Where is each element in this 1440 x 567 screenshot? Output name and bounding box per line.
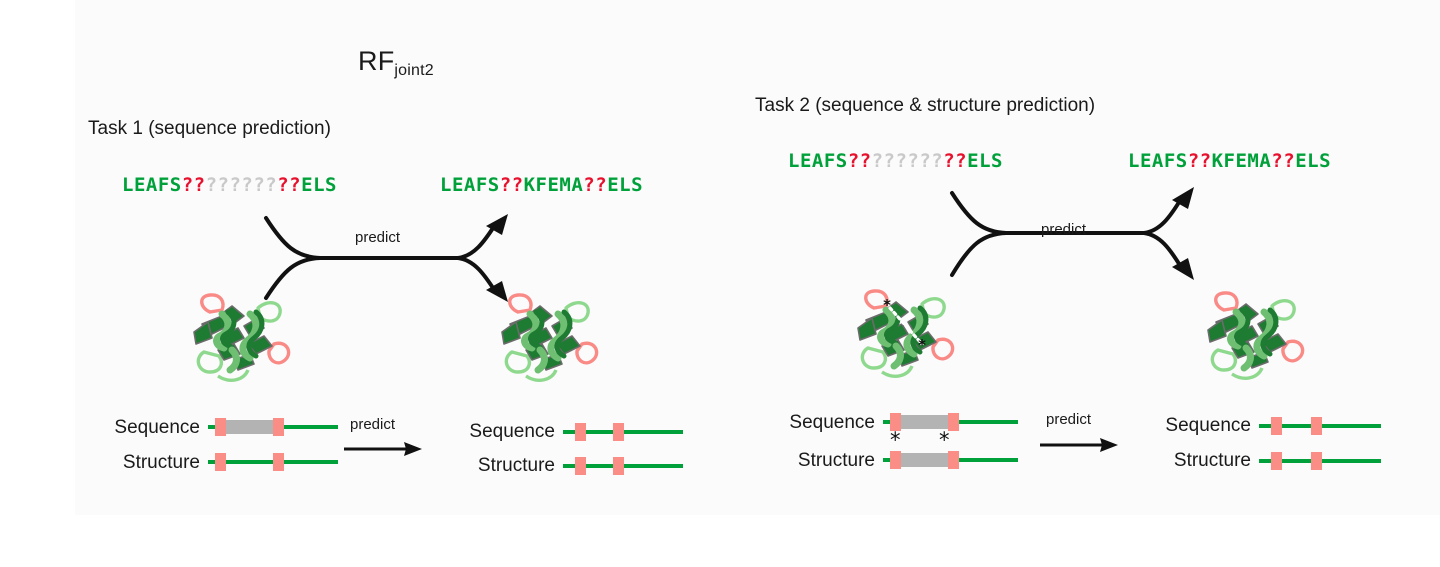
figure-title: RFjoint2 [358, 46, 434, 77]
task1-bottom-predict-label: predict [350, 416, 395, 433]
sequence-segment-green: LEAFS [788, 150, 848, 172]
task1-title: Task 1 (sequence prediction) [88, 118, 331, 140]
task1-bowtie-predict-label: predict [355, 229, 400, 246]
track-marker [948, 451, 959, 469]
task1-input-sequence: LEAFS??????????ELS [122, 174, 337, 196]
sequence-segment-green: LEAFS [1128, 150, 1188, 172]
track-marker [1311, 452, 1322, 470]
task1-input-track-sequence [208, 418, 338, 436]
track-marker [215, 418, 226, 436]
task2-input-track-label-structure: Structure [730, 450, 875, 472]
figure-canvas: RFjoint2 Task 1 (sequence prediction) LE… [0, 0, 1440, 567]
sequence-segment-gray: ?????? [206, 174, 278, 196]
track-marker [575, 423, 586, 441]
sequence-segment-red: ?? [848, 150, 872, 172]
gap-star-marker: * [883, 296, 891, 314]
task2-structure-star-1: * [890, 430, 901, 451]
task1-output-track-sequence [563, 423, 683, 441]
task1-input-track-label-structure: Structure [55, 452, 200, 474]
task2-output-track-label-structure: Structure [1106, 450, 1251, 472]
track-marker [613, 423, 624, 441]
task1-input-protein-structure [192, 292, 297, 384]
task2-title: Task 2 (sequence & structure prediction) [755, 95, 1095, 117]
track-mask-region [893, 453, 955, 467]
task2-structure-star-2: * [939, 430, 950, 451]
task2-output-protein-structure [1206, 290, 1311, 382]
task1-output-track-label-sequence: Sequence [410, 421, 555, 443]
figure-title-subscript: joint2 [394, 62, 433, 79]
task2-output-track-structure [1259, 452, 1381, 470]
task2-output-track-sequence [1259, 417, 1381, 435]
sequence-segment-green: ELS [301, 174, 337, 196]
track-marker [1271, 417, 1282, 435]
track-marker [890, 451, 901, 469]
sequence-segment-red: ?? [943, 150, 967, 172]
task2-output-sequence: LEAFS??KFEMA??ELS [1128, 150, 1331, 172]
sequence-segment-gray: ?????? [872, 150, 944, 172]
figure-title-main: RF [358, 46, 394, 76]
sequence-segment-red: ?? [1188, 150, 1212, 172]
sequence-segment-green: KFEMA [524, 174, 584, 196]
task2-input-track-label-sequence: Sequence [730, 412, 875, 434]
sequence-segment-red: ?? [182, 174, 206, 196]
task1-bowtie-predict-arrow [262, 212, 512, 302]
gap-star-marker: * [918, 336, 926, 354]
task2-input-protein-structure: * * [856, 288, 961, 383]
track-marker [273, 418, 284, 436]
track-marker [1311, 417, 1322, 435]
sequence-segment-green: LEAFS [440, 174, 500, 196]
track-mask-region [893, 415, 955, 429]
sequence-segment-green: ELS [1295, 150, 1331, 172]
track-marker [948, 413, 959, 431]
track-marker [215, 453, 226, 471]
track-marker [273, 453, 284, 471]
sequence-segment-green: ELS [607, 174, 643, 196]
sequence-segment-red: ?? [277, 174, 301, 196]
sequence-segment-green: KFEMA [1212, 150, 1272, 172]
track-mask-region [218, 420, 280, 434]
sequence-segment-red: ?? [500, 174, 524, 196]
track-marker [1271, 452, 1282, 470]
sequence-segment-green: LEAFS [122, 174, 182, 196]
task2-bottom-predict-label: predict [1046, 411, 1091, 428]
sequence-segment-red: ?? [583, 174, 607, 196]
task1-input-track-label-sequence: Sequence [55, 417, 200, 439]
track-marker [613, 457, 624, 475]
task2-input-sequence: LEAFS??????????ELS [788, 150, 1003, 172]
task2-input-track-sequence [883, 413, 1018, 431]
task1-output-track-structure [563, 457, 683, 475]
task2-output-track-label-sequence: Sequence [1106, 415, 1251, 437]
task1-output-protein-structure [500, 292, 605, 384]
task1-output-sequence: LEAFS??KFEMA??ELS [440, 174, 643, 196]
sequence-segment-green: ELS [967, 150, 1003, 172]
track-marker [575, 457, 586, 475]
task2-input-track-structure [883, 451, 1018, 469]
task2-bowtie-predict-label: predict [1041, 221, 1086, 238]
task1-input-track-structure [208, 453, 338, 471]
sequence-segment-red: ?? [1271, 150, 1295, 172]
task1-output-track-label-structure: Structure [410, 455, 555, 477]
